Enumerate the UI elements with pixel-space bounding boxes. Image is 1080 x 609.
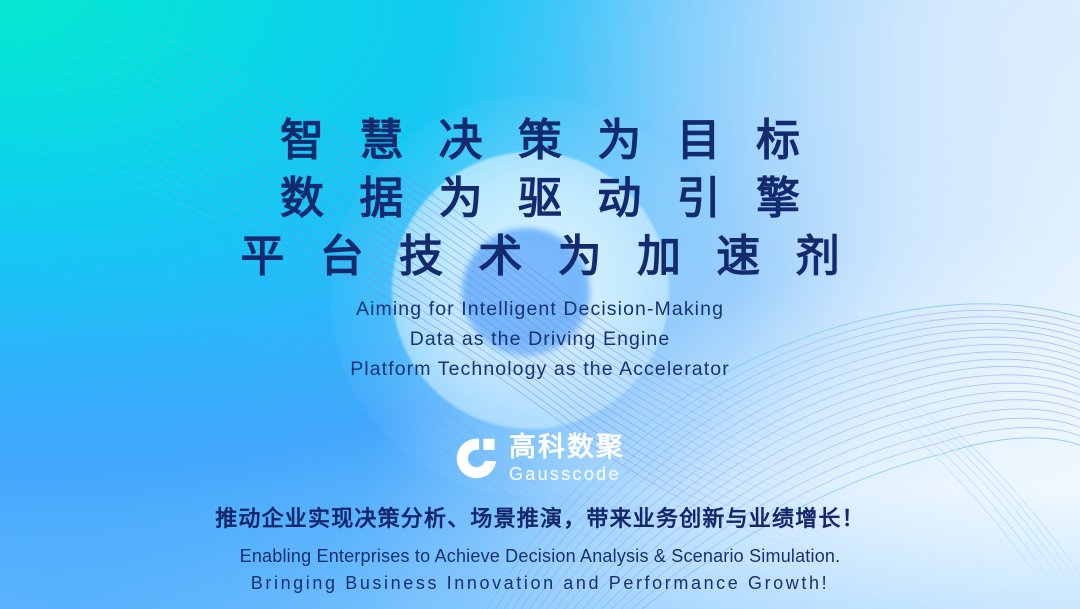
tagline-english-line-1: Enabling Enterprises to Achieve Decision…	[215, 543, 865, 570]
tagline-english-line-2: Bringing Business Innovation and Perform…	[215, 570, 865, 597]
headline-chinese: 智 慧 决 策 为 目 标 数 据 为 驱 动 引 擎 平 台 技 术 为 加 …	[230, 112, 849, 286]
logo-name-chinese: 高科数聚	[509, 434, 625, 461]
company-logo: 高科数聚 Gausscode	[455, 434, 625, 483]
headline-line-3: 平 台 技 术 为 加 速 剂	[230, 228, 849, 286]
gausscode-g-mark-icon	[455, 437, 498, 480]
banner-content: 智 慧 决 策 为 目 标 数 据 为 驱 动 引 擎 平 台 技 术 为 加 …	[0, 0, 1080, 609]
tagline-english: Enabling Enterprises to Achieve Decision…	[215, 543, 865, 597]
headline-line-2: 数 据 为 驱 动 引 擎	[230, 170, 849, 228]
logo-name-english: Gausscode	[509, 465, 625, 483]
logo-text-block: 高科数聚 Gausscode	[509, 434, 625, 483]
tagline-chinese: 推动企业实现决策分析、场景推演，带来业务创新与业绩增长！	[215, 501, 865, 533]
tagline-block: 推动企业实现决策分析、场景推演，带来业务创新与业绩增长！ Enabling En…	[215, 501, 865, 597]
promo-banner: 智 慧 决 策 为 目 标 数 据 为 驱 动 引 擎 平 台 技 术 为 加 …	[0, 0, 1080, 609]
subtitle-english: Aiming for Intelligent Decision-Making D…	[350, 294, 730, 384]
subtitle-line-1: Aiming for Intelligent Decision-Making	[350, 294, 730, 324]
subtitle-line-2: Data as the Driving Engine	[350, 324, 730, 354]
headline-line-1: 智 慧 决 策 为 目 标	[230, 112, 849, 170]
subtitle-line-3: Platform Technology as the Accelerator	[350, 354, 730, 384]
